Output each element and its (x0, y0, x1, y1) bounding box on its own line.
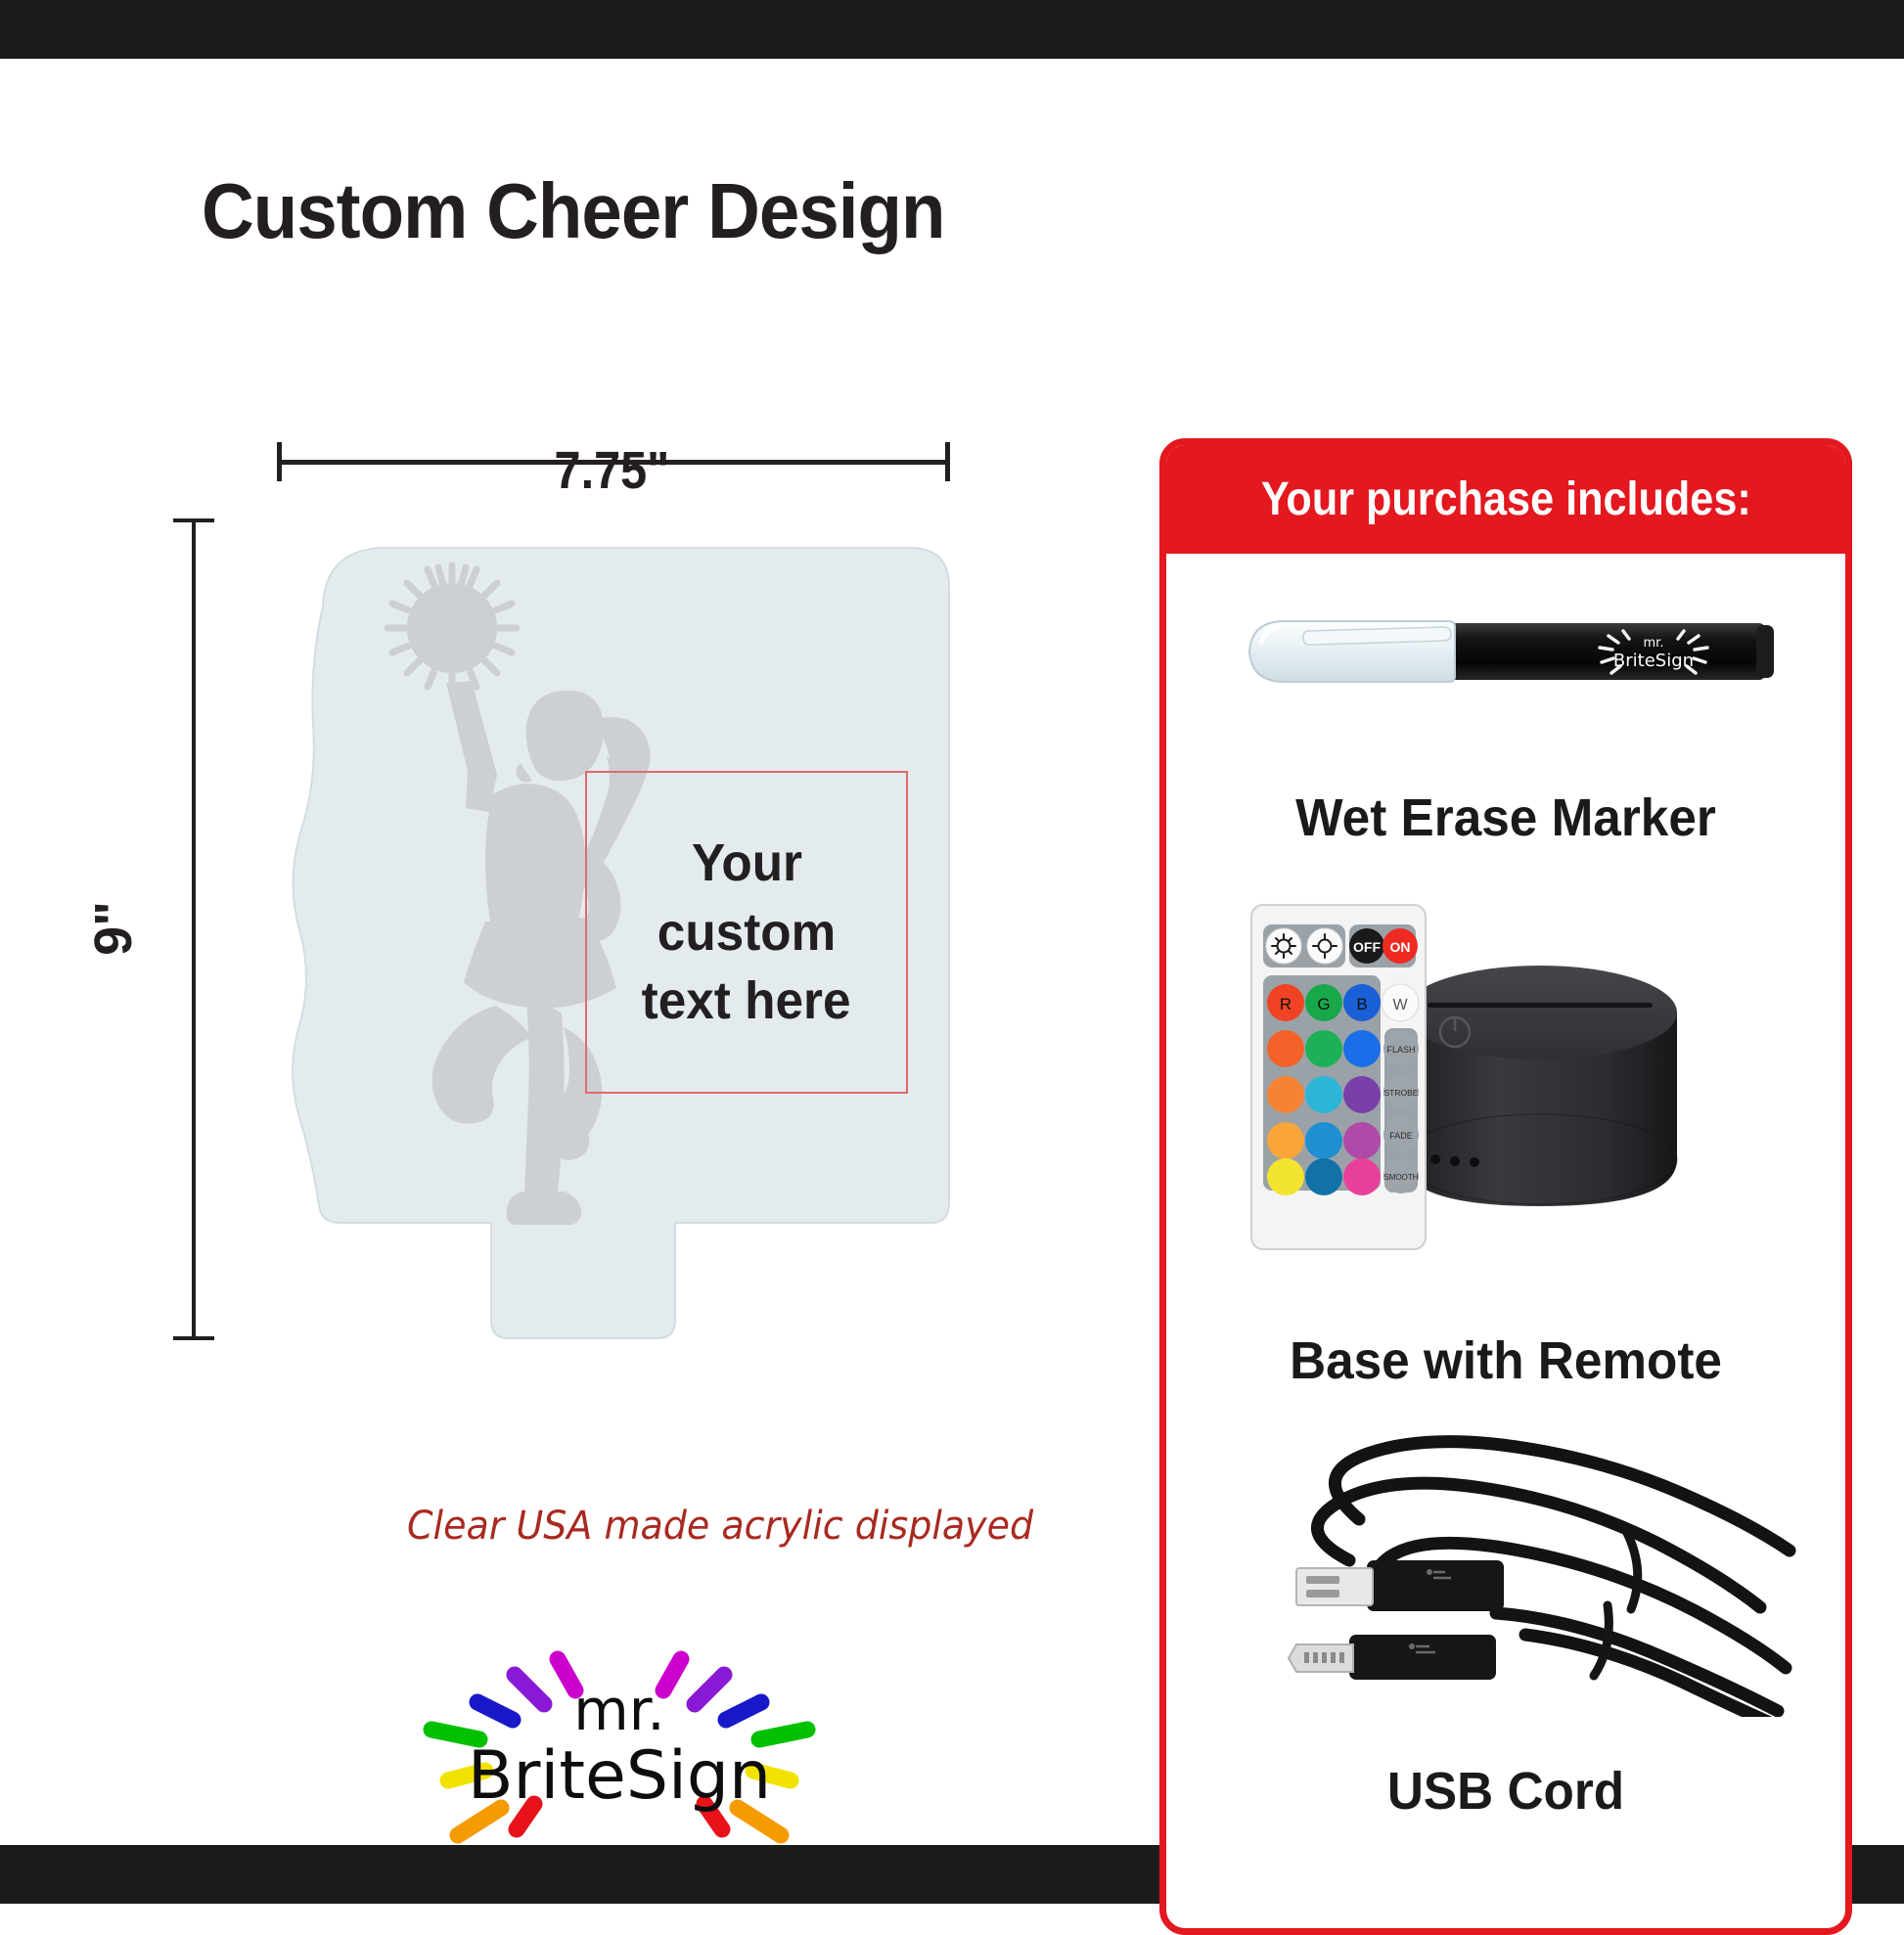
logo-text-mr: mr. (573, 1677, 664, 1743)
purchase-includes-panel: Your purchase includes: (1159, 438, 1852, 1935)
usb-cord-label: USB Cord (1183, 1761, 1828, 1822)
height-dimension-cap-bottom (173, 1336, 214, 1340)
brand-logo: mr. BriteSign (409, 1612, 830, 1901)
custom-text-placeholder-box[interactable]: Your custom text here (585, 771, 908, 1094)
led-base-with-remote-art: OFF ON R G B W (1166, 866, 1845, 1296)
purchase-includes-title: Your purchase includes: (1261, 472, 1751, 526)
remote-label-b: B (1356, 995, 1367, 1013)
custom-text-line-3: text here (642, 973, 851, 1029)
marker-end-cap (1756, 625, 1774, 678)
remote-fade-label: FADE (1389, 1131, 1413, 1141)
base-acrylic-slot (1428, 1003, 1653, 1008)
brightness-up-icon[interactable] (1266, 928, 1301, 964)
remote-off-label: OFF (1353, 939, 1381, 955)
remote-control[interactable]: OFF ON R G B W (1251, 905, 1426, 1249)
usb-a-connector (1296, 1560, 1504, 1611)
remote-on-label: ON (1390, 939, 1411, 955)
brand-logo-svg: mr. BriteSign (409, 1612, 830, 1901)
height-dimension-label: 9" (83, 901, 144, 956)
micro-usb-connector (1289, 1635, 1496, 1680)
width-dimension-cap-left (277, 442, 282, 481)
remote-smooth-label: SMOOTH (1383, 1173, 1418, 1182)
brightness-down-icon[interactable] (1307, 928, 1342, 964)
led-base-label: Base with Remote (1183, 1330, 1828, 1391)
remote-flash-label: FLASH (1386, 1045, 1415, 1055)
height-dimension-line (192, 518, 196, 1340)
wet-erase-marker-art: mr. BriteSign (1166, 582, 1845, 739)
remote-strobe-label: STROBE (1384, 1088, 1419, 1098)
remote-label-w: W (1392, 997, 1408, 1013)
page-canvas: Custom Cheer Design 7.75" 9" (0, 59, 1904, 1845)
svg-text:BriteSign: BriteSign (1613, 651, 1694, 671)
usb-cord-art (1166, 1404, 1845, 1736)
width-dimension-cap-right (945, 442, 950, 481)
top-black-bar (0, 0, 1904, 59)
page-title: Custom Cheer Design (202, 166, 945, 256)
led-base-unit (1403, 966, 1677, 1206)
svg-text:mr.: mr. (1644, 636, 1664, 651)
custom-text-line-1: Your (691, 835, 801, 891)
remote-label-r: R (1280, 995, 1292, 1013)
wet-erase-marker-label: Wet Erase Marker (1183, 787, 1828, 848)
remote-color-grid[interactable] (1267, 1030, 1381, 1195)
logo-text-britesign: BriteSign (468, 1737, 771, 1815)
marker-barrel (1442, 623, 1765, 680)
remote-label-g: G (1317, 995, 1330, 1013)
width-dimension-label: 7.75" (555, 440, 670, 501)
width-dimension-line (277, 460, 950, 465)
acrylic-caption: Clear USA made acrylic displayed (407, 1504, 1033, 1549)
purchase-includes-header: Your purchase includes: (1165, 444, 1846, 554)
height-dimension-cap-top (173, 518, 214, 522)
custom-text-line-2: custom (657, 905, 836, 961)
